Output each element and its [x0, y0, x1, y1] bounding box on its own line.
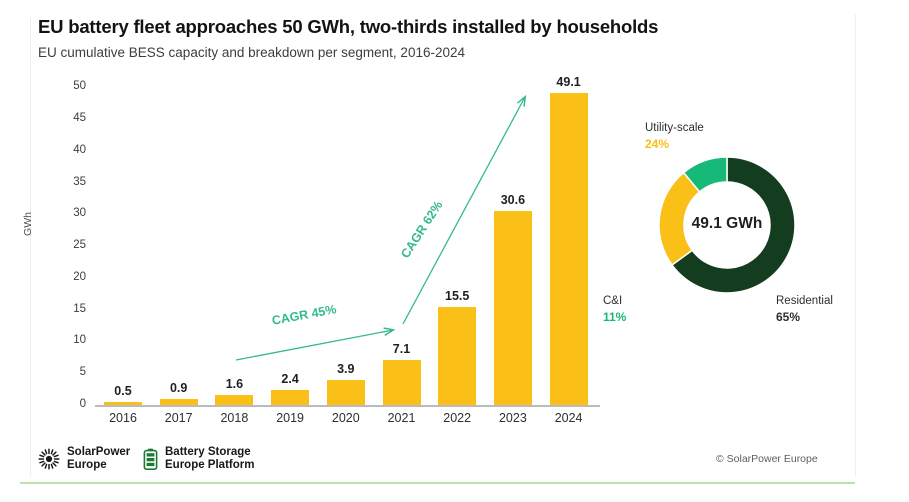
bar-value-label: 49.1 — [539, 75, 599, 89]
bar-value-label: 3.9 — [316, 362, 376, 376]
x-axis-tick-label: 2018 — [204, 411, 264, 425]
x-axis-tick-label: 2016 — [93, 411, 153, 425]
x-axis-tick-label: 2019 — [260, 411, 320, 425]
donut-center-label: 49.1 GWh — [657, 215, 797, 233]
battery-icon — [143, 448, 158, 470]
battery-storage-logo-text: Battery Storage Europe Platform — [165, 446, 254, 471]
sun-icon — [38, 448, 60, 470]
cagr-45-arrow — [236, 330, 393, 360]
y-axis-tick-label: 0 — [52, 398, 86, 410]
solarpower-europe-logo: SolarPower Europe — [38, 446, 130, 471]
y-axis-title: GWh — [22, 194, 34, 254]
y-axis-tick-label: 45 — [52, 112, 86, 124]
solarpower-logo-line2: Europe — [67, 459, 130, 472]
bar-value-label: 7.1 — [372, 342, 432, 356]
bar — [104, 402, 142, 405]
bar-value-label: 30.6 — [483, 193, 543, 207]
battery-logo-line2: Europe Platform — [165, 459, 254, 472]
bar — [215, 395, 253, 405]
y-axis-tick-label: 25 — [52, 239, 86, 251]
cagr-45-label: CAGR 45% — [271, 302, 338, 328]
bar — [550, 93, 588, 405]
battery-logo-line1: Battery Storage — [165, 446, 254, 459]
donut-pct-utility-scale: 24% — [645, 137, 669, 151]
bar — [383, 360, 421, 405]
cagr-62-label: CAGR 62% — [398, 198, 445, 260]
y-axis-tick-label: 50 — [52, 80, 86, 92]
bar — [160, 399, 198, 405]
bar-chart: GWh 05101520253035404550 0.50.91.62.43.9… — [0, 0, 620, 440]
bar-value-label: 1.6 — [204, 377, 264, 391]
y-axis-tick-label: 40 — [52, 144, 86, 156]
donut-pct-ci: 11% — [603, 310, 626, 324]
x-axis-tick-label: 2022 — [427, 411, 487, 425]
battery-storage-europe-platform-logo: Battery Storage Europe Platform — [143, 446, 254, 471]
solarpower-logo-line1: SolarPower — [67, 446, 130, 459]
y-axis-tick-label: 5 — [52, 366, 86, 378]
x-axis-tick-label: 2021 — [372, 411, 432, 425]
copyright-text: © SolarPower Europe — [716, 453, 818, 465]
y-axis-tick-label: 30 — [52, 207, 86, 219]
y-axis-tick-label: 20 — [52, 271, 86, 283]
bar — [494, 211, 532, 405]
x-axis-tick-label: 2023 — [483, 411, 543, 425]
donut-pct-residential: 65% — [776, 310, 800, 324]
x-axis-tick-label: 2020 — [316, 411, 376, 425]
donut-label-utility-scale: Utility-scale — [645, 122, 704, 134]
bar — [271, 390, 309, 405]
bar-value-label: 2.4 — [260, 372, 320, 386]
y-axis-tick-label: 35 — [52, 176, 86, 188]
x-axis-tick-label: 2017 — [149, 411, 209, 425]
bar-value-label: 0.9 — [149, 381, 209, 395]
bar — [327, 380, 365, 405]
solarpower-europe-logo-text: SolarPower Europe — [67, 446, 130, 471]
bar-value-label: 0.5 — [93, 384, 153, 398]
y-axis-tick-label: 10 — [52, 334, 86, 346]
bar-value-label: 15.5 — [427, 289, 487, 303]
donut-chart: 49.1 GWh Utility-scale 24% Residential 6… — [600, 110, 880, 350]
donut-label-residential: Residential — [776, 295, 833, 307]
donut-label-ci: C&I — [603, 295, 622, 307]
y-axis-tick-label: 15 — [52, 303, 86, 315]
chart-page: EU battery fleet approaches 50 GWh, two-… — [0, 0, 909, 502]
x-axis-tick-label: 2024 — [539, 411, 599, 425]
x-axis-line — [95, 405, 600, 407]
card-bottom-rule — [20, 482, 855, 484]
bar — [438, 307, 476, 405]
